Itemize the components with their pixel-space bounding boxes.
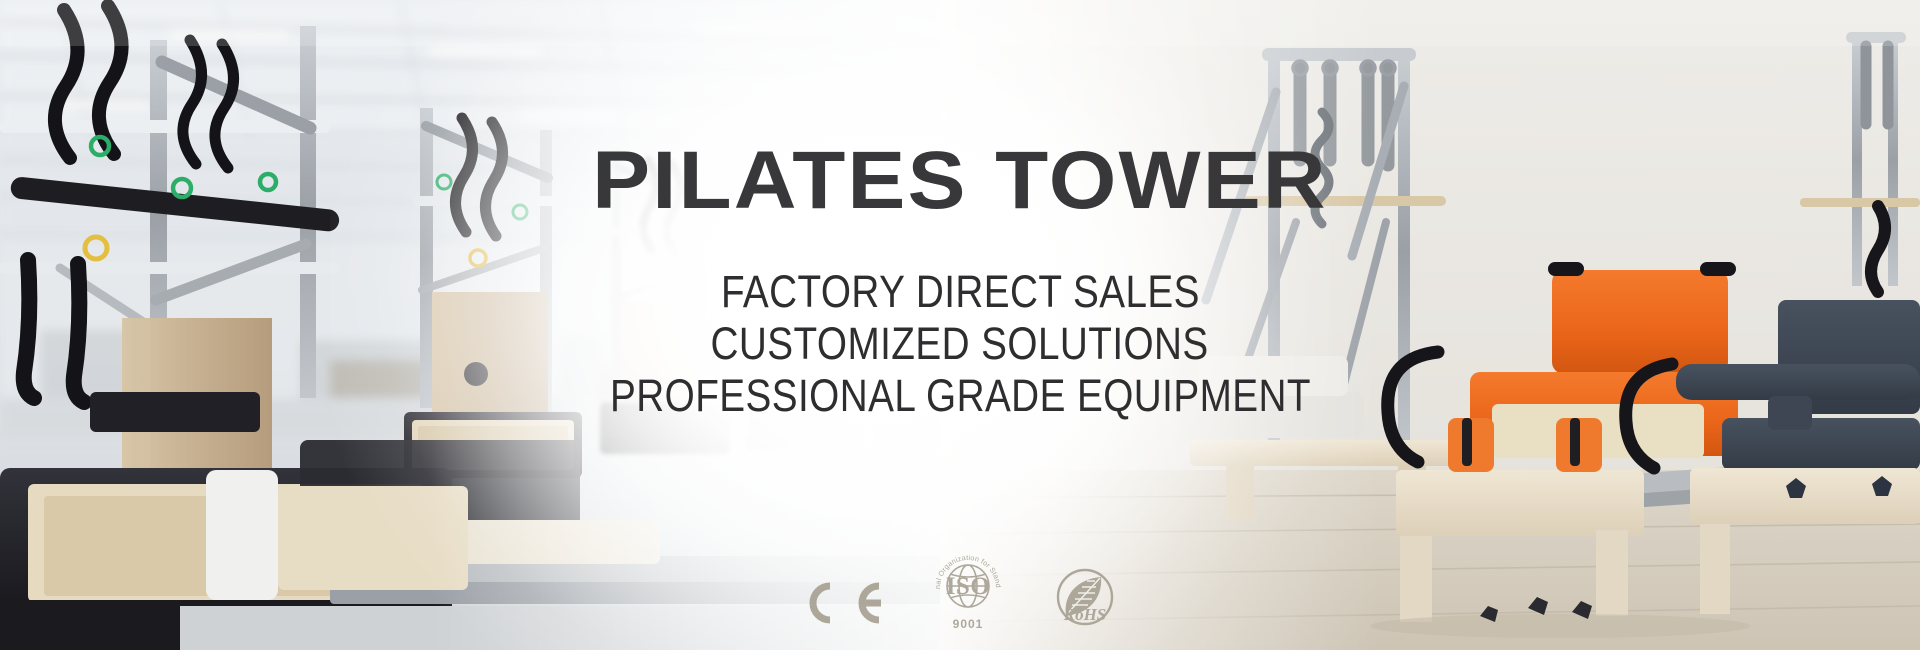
svg-text:RoHS: RoHS [1063, 605, 1107, 624]
subheading-line-2: CUSTOMIZED SOLUTIONS [711, 318, 1209, 370]
svg-text:ISO: ISO [946, 573, 991, 600]
subheading-line-1: FACTORY DIRECT SALES [721, 266, 1200, 318]
headline-word-tower: TOWER [995, 135, 1328, 226]
subheading-line-3: PROFESSIONAL GRADE EQUIPMENT [610, 370, 1311, 422]
page-title: PILATESTOWER [592, 140, 1328, 222]
certification-badge-row: International Organization for Standardi… [0, 552, 1920, 631]
iso-9001-icon: International Organization for Standardi… [931, 552, 1005, 631]
iso-standard-number: 9001 [953, 617, 984, 631]
pilates-tower-hero-banner: PILATESTOWER FACTORY DIRECT SALES CUSTOM… [0, 0, 1920, 650]
ce-mark-icon [799, 575, 887, 631]
headline-word-pilates: PILATES [592, 135, 967, 226]
subheading-block: FACTORY DIRECT SALES CUSTOMIZED SOLUTION… [553, 266, 1368, 423]
rohs-leaf-icon: RoHS [1049, 565, 1121, 631]
